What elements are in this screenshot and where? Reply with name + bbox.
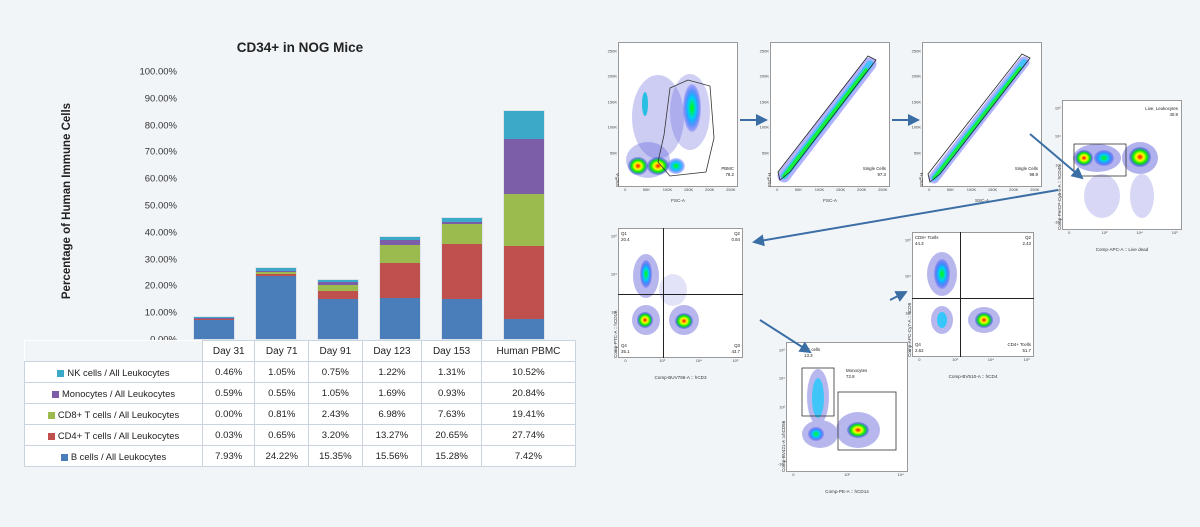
axis-tick: 10²	[844, 472, 850, 477]
stacked-bar[interactable]	[255, 267, 297, 340]
axis-tick: 0	[919, 176, 921, 181]
quadrant-vertical-divider	[960, 232, 961, 357]
table-header-row: Day 31Day 71Day 91Day 123Day 153Human PB…	[25, 341, 576, 362]
axis-tick: 10⁴	[1055, 134, 1061, 139]
table-cell: 1.22%	[362, 362, 422, 383]
table-row: Monocytes / All Leukocytes0.59%0.55%1.05…	[25, 383, 576, 404]
table-row-label: B cells / All Leukocytes	[25, 446, 203, 467]
flow-panel-livedead: Live, Leukocytes 40.9 Comp-APC-A :: Live…	[1062, 100, 1182, 230]
axis-tick: -10²	[778, 462, 785, 467]
axis-tick: 250K	[878, 187, 887, 192]
bar-segment	[504, 139, 544, 194]
axis-tick: 0	[624, 358, 626, 363]
axis-tick: 200K	[1009, 187, 1018, 192]
flow-panel-cd3: Q120.4 Q20.84 Q343.7 Q435.1 Comp-BUV786-…	[618, 228, 743, 358]
quadrant-label-q2: Q22.43	[1022, 235, 1031, 246]
table-cell: 20.84%	[481, 383, 575, 404]
quadrant-label-q3: Q343.7	[731, 343, 740, 354]
table-cell: 0.03%	[203, 425, 255, 446]
y-axis-tick: 30.00%	[145, 254, 177, 265]
bar-segment	[380, 263, 420, 298]
y-axis-ticks: 050K100K150K200K250K	[755, 42, 769, 187]
scatter-cloud	[618, 42, 738, 187]
table-row: CD8+ T cells / All Leukocytes0.00%0.81%2…	[25, 404, 576, 425]
table-cell: 0.46%	[203, 362, 255, 383]
table-column-header: Day 31	[203, 341, 255, 362]
axis-tick: 10²	[611, 310, 617, 315]
axis-tick: 10²	[952, 357, 958, 362]
axis-tick: 200K	[857, 187, 866, 192]
axis-tick: 50K	[643, 187, 650, 192]
x-axis-label: Comp-APC-A :: Live dead	[1062, 247, 1182, 252]
bar-segment	[504, 111, 544, 139]
table-cell: 10.52%	[481, 362, 575, 383]
axis-tick: 50K	[947, 187, 954, 192]
table-cell: 6.98%	[362, 404, 422, 425]
axis-tick: 100K	[663, 187, 672, 192]
flow-panel-cd4-cd8: CD8+ Tcells44.3 Q22.43 CD4+ Tcells51.7 Q…	[912, 232, 1034, 357]
y-axis-tick: 10.00%	[145, 308, 177, 319]
axis-tick: 200K	[608, 74, 617, 79]
axis-tick: 10⁶	[1172, 230, 1178, 235]
x-axis-label: Comp-BV510-A :: hCD4	[912, 374, 1034, 379]
axis-tick: 250K	[1030, 187, 1039, 192]
axis-tick: 10²	[659, 358, 665, 363]
bar-segment	[504, 246, 544, 320]
table-cell: 19.41%	[481, 404, 575, 425]
axis-tick: 0	[615, 176, 617, 181]
axis-tick: 150K	[608, 99, 617, 104]
axis-tick: 10²	[1102, 230, 1108, 235]
table-row: NK cells / All Leukocytes0.46%1.05%0.75%…	[25, 362, 576, 383]
table-column-header: Human PBMC	[481, 341, 575, 362]
gate-label-pbmc: PBMC 78.2	[721, 166, 734, 177]
bar-segment	[504, 194, 544, 246]
table-row: CD4+ T cells / All Leukocytes0.03%0.65%3…	[25, 425, 576, 446]
bar-segment	[318, 299, 358, 339]
bar-segment	[194, 320, 234, 339]
flow-panel-singlets-fsc: Single Cells 97.3 FSC-A FSC-H 050K100K15…	[770, 42, 890, 187]
table-row-label: Monocytes / All Leukocytes	[25, 383, 203, 404]
legend-swatch-icon	[52, 391, 59, 398]
flow-panel-pbmc: PBMC 78.2 FSC-A SSC-A 050K100K150K200K25…	[618, 42, 738, 187]
scatter-cloud	[618, 228, 743, 358]
stacked-bar[interactable]	[193, 316, 235, 340]
table-column-header: Day 123	[362, 341, 422, 362]
gate-label-monocytes: Monocytes72.8	[846, 368, 867, 379]
axis-tick: 0	[1059, 191, 1061, 196]
bar-segment	[318, 291, 358, 299]
x-axis-ticks: 010²10⁴10⁶	[912, 357, 1034, 365]
table-cell: 7.93%	[203, 446, 255, 467]
scatter-cloud	[912, 232, 1034, 357]
axis-tick: 10⁴	[898, 472, 904, 477]
data-table: Day 31Day 71Day 91Day 123Day 153Human PB…	[24, 340, 576, 467]
x-axis-label: FSC-A	[770, 198, 890, 203]
y-axis-ticks: 010²10⁴10⁶	[603, 228, 617, 358]
axis-tick: 100K	[912, 125, 921, 130]
table-corner-cell	[25, 341, 203, 362]
bar-segment	[380, 245, 420, 263]
axis-tick: 0	[909, 347, 911, 352]
table-cell: 15.28%	[422, 446, 482, 467]
axis-tick: 10⁴	[696, 358, 702, 363]
axis-tick: 0	[776, 187, 778, 192]
bar-segment	[380, 298, 420, 339]
axis-tick: 0	[1068, 230, 1070, 235]
quadrant-label-q4: Q435.1	[621, 343, 630, 354]
axis-tick: 0	[767, 176, 769, 181]
table-cell: 13.27%	[362, 425, 422, 446]
axis-tick: 150K	[988, 187, 997, 192]
flow-panel-cd14: NK cells13.3 Monocytes72.8 Comp-PE-A :: …	[786, 342, 908, 472]
bar-segment	[504, 319, 544, 339]
x-axis-label: Comp-BUV786-A :: hCD3	[618, 375, 743, 380]
table-cell: 3.20%	[309, 425, 363, 446]
y-axis-tick: 70.00%	[145, 147, 177, 158]
quadrant-label-q1: Q120.4	[621, 231, 630, 242]
axis-tick: 150K	[684, 187, 693, 192]
y-axis-tick: 50.00%	[145, 201, 177, 212]
table-cell: 7.42%	[481, 446, 575, 467]
axis-tick: 0	[615, 348, 617, 353]
axis-tick: 0	[928, 187, 930, 192]
legend-label: B cells / All Leukocytes	[71, 451, 166, 462]
axis-tick: 50K	[795, 187, 802, 192]
chart-panel: CD34+ in NOG Mice Percentage of Human Im…	[0, 0, 600, 527]
y-axis-tick: 60.00%	[145, 174, 177, 185]
x-axis-ticks: 050K100K150K200K250K	[922, 187, 1042, 195]
bar-segment	[442, 244, 482, 298]
table-column-header: Day 91	[309, 341, 363, 362]
y-axis-ticks: 050K100K150K200K250K	[907, 42, 921, 187]
bar-slot	[183, 72, 245, 340]
quadrant-label-q4: Q42.62	[915, 342, 924, 353]
gate-label-livedead: Live, Leukocytes 40.9	[1145, 106, 1178, 117]
axis-tick: 10⁶	[611, 233, 617, 238]
table-cell: 15.35%	[309, 446, 363, 467]
legend-label: NK cells / All Leukocytes	[67, 367, 169, 378]
legend-label: CD4+ T cells / All Leukocytes	[58, 430, 179, 441]
axis-tick: 100K	[815, 187, 824, 192]
axis-tick: 10⁴	[779, 376, 785, 381]
axis-tick: 150K	[760, 99, 769, 104]
axis-tick: 250K	[608, 48, 617, 53]
quadrant-horizontal-divider	[618, 294, 743, 295]
legend-label: Monocytes / All Leukocytes	[62, 388, 175, 399]
table-cell: 0.75%	[309, 362, 363, 383]
table-cell: 1.05%	[255, 362, 309, 383]
quadrant-horizontal-divider	[912, 298, 1034, 299]
x-axis-label: FSC-A	[618, 198, 738, 203]
axis-tick: 0	[624, 187, 626, 192]
quadrant-vertical-divider	[663, 228, 664, 358]
x-axis-label: SSC-A	[922, 198, 1042, 203]
axis-tick: 50K	[762, 150, 769, 155]
table-row-label: CD8+ T cells / All Leukocytes	[25, 404, 203, 425]
bar-group	[183, 72, 555, 340]
axis-tick: 10²	[779, 405, 785, 410]
table-cell: 0.93%	[422, 383, 482, 404]
x-axis-label: Comp-PE-A :: hCD14	[786, 489, 908, 494]
legend-swatch-icon	[48, 433, 55, 440]
scatter-cloud	[1062, 100, 1182, 230]
x-axis-ticks: 050K100K150K200K250K	[770, 187, 890, 195]
table-cell: 0.65%	[255, 425, 309, 446]
bar-segment	[256, 276, 296, 339]
y-axis-title: Percentage of Human Immune Cells	[61, 86, 73, 316]
table-row-label: NK cells / All Leukocytes	[25, 362, 203, 383]
gate-label-singlets: Single Cells 97.3	[863, 166, 886, 177]
axis-tick: 200K	[912, 74, 921, 79]
axis-tick: 150K	[836, 187, 845, 192]
table-cell: 7.63%	[422, 404, 482, 425]
bar-slot	[369, 72, 431, 340]
bar-slot	[307, 72, 369, 340]
axis-tick: 0	[783, 433, 785, 438]
axis-tick: 50K	[610, 150, 617, 155]
table-cell: 1.05%	[309, 383, 363, 404]
bar-slot	[245, 72, 307, 340]
plot-area: 0.00%10.00%20.00%30.00%40.00%50.00%60.00…	[183, 72, 555, 340]
table-cell: 15.56%	[362, 446, 422, 467]
x-axis-ticks: 010²10⁴10⁶	[1062, 230, 1182, 238]
axis-tick: 10⁶	[1055, 105, 1061, 110]
axis-tick: 10⁶	[779, 347, 785, 352]
stacked-bar[interactable]	[503, 110, 545, 340]
axis-tick: 100K	[608, 125, 617, 130]
axis-tick: 10⁶	[732, 358, 738, 363]
axis-tick: 10⁴	[1137, 230, 1143, 235]
y-axis-tick: 20.00%	[145, 281, 177, 292]
gate-label-singlets2: Single Cells 98.9	[1015, 166, 1038, 177]
bar-segment	[442, 299, 482, 339]
table-cell: 2.43%	[309, 404, 363, 425]
table-cell: 0.55%	[255, 383, 309, 404]
axis-tick: 100K	[760, 125, 769, 130]
table-header: Day 31Day 71Day 91Day 123Day 153Human PB…	[25, 341, 576, 362]
gate-label-nk: NK cells13.3	[804, 347, 820, 358]
flow-cytometry-panel: PBMC 78.2 FSC-A SSC-A 050K100K150K200K25…	[600, 0, 1200, 527]
axis-tick: -10³	[1054, 220, 1061, 225]
bar-slot	[493, 72, 555, 340]
flow-panel-singlets-ssc: Single Cells 98.9 SSC-A SSC-H 050K100K15…	[922, 42, 1042, 187]
axis-tick: 250K	[760, 48, 769, 53]
axis-tick: 10⁶	[905, 237, 911, 242]
axis-tick: 250K	[726, 187, 735, 192]
axis-tick: 250K	[912, 48, 921, 53]
axis-tick: 200K	[705, 187, 714, 192]
axis-tick: 150K	[912, 99, 921, 104]
y-axis-ticks: 050K100K150K200K250K	[603, 42, 617, 187]
y-axis-tick: 90.00%	[145, 93, 177, 104]
table-cell: 24.22%	[255, 446, 309, 467]
axis-tick: 50K	[914, 150, 921, 155]
bar-slot	[431, 72, 493, 340]
stacked-bar[interactable]	[317, 279, 359, 340]
legend-swatch-icon	[57, 370, 64, 377]
y-axis-ticks: -10³010²10⁴10⁶	[1047, 100, 1061, 230]
stacked-bar[interactable]	[441, 217, 483, 340]
table-cell: 1.31%	[422, 362, 482, 383]
axis-tick: 200K	[760, 74, 769, 79]
axis-tick: 10⁶	[1024, 357, 1030, 362]
y-axis-tick: 100.00%	[139, 67, 177, 78]
quadrant-label-cd4: CD4+ Tcells51.7	[1008, 342, 1031, 353]
bar-segment	[442, 224, 482, 244]
axis-tick: 100K	[967, 187, 976, 192]
x-axis-ticks: 010²10⁴10⁶	[618, 358, 743, 366]
x-axis-ticks: 050K100K150K200K250K	[618, 187, 738, 195]
axis-tick: 10⁴	[988, 357, 994, 362]
stacked-bar[interactable]	[379, 236, 421, 340]
axis-tick: 0	[792, 472, 794, 477]
table-cell: 20.65%	[422, 425, 482, 446]
y-axis-tick: 80.00%	[145, 120, 177, 131]
table-row: B cells / All Leukocytes7.93%24.22%15.35…	[25, 446, 576, 467]
legend-label: CD8+ T cells / All Leukocytes	[58, 409, 179, 420]
scatter-cloud	[786, 342, 908, 472]
axis-tick: 10²	[1055, 163, 1061, 168]
table-column-header: Day 71	[255, 341, 309, 362]
table-column-header: Day 153	[422, 341, 482, 362]
quadrant-label-q2: Q20.84	[731, 231, 740, 242]
axis-tick: 10⁴	[905, 274, 911, 279]
chart-title: CD34+ in NOG Mice	[150, 40, 450, 55]
legend-swatch-icon	[48, 412, 55, 419]
table-cell: 1.69%	[362, 383, 422, 404]
axis-tick: 10²	[905, 310, 911, 315]
table-body: NK cells / All Leukocytes0.46%1.05%0.75%…	[25, 362, 576, 467]
x-axis-ticks: 010²10⁴	[786, 472, 908, 480]
y-axis-ticks: -10²010²10⁴10⁶	[771, 342, 785, 472]
quadrant-label-cd8: CD8+ Tcells44.3	[915, 235, 938, 246]
y-axis-ticks: 010²10⁴10⁶	[897, 232, 911, 357]
table-cell: 27.74%	[481, 425, 575, 446]
table-row-label: CD4+ T cells / All Leukocytes	[25, 425, 203, 446]
y-axis-tick: 40.00%	[145, 227, 177, 238]
axis-tick: 0	[918, 357, 920, 362]
table-cell: 0.00%	[203, 404, 255, 425]
table-cell: 0.59%	[203, 383, 255, 404]
table-cell: 0.81%	[255, 404, 309, 425]
legend-swatch-icon	[61, 454, 68, 461]
axis-tick: 10⁴	[611, 271, 617, 276]
